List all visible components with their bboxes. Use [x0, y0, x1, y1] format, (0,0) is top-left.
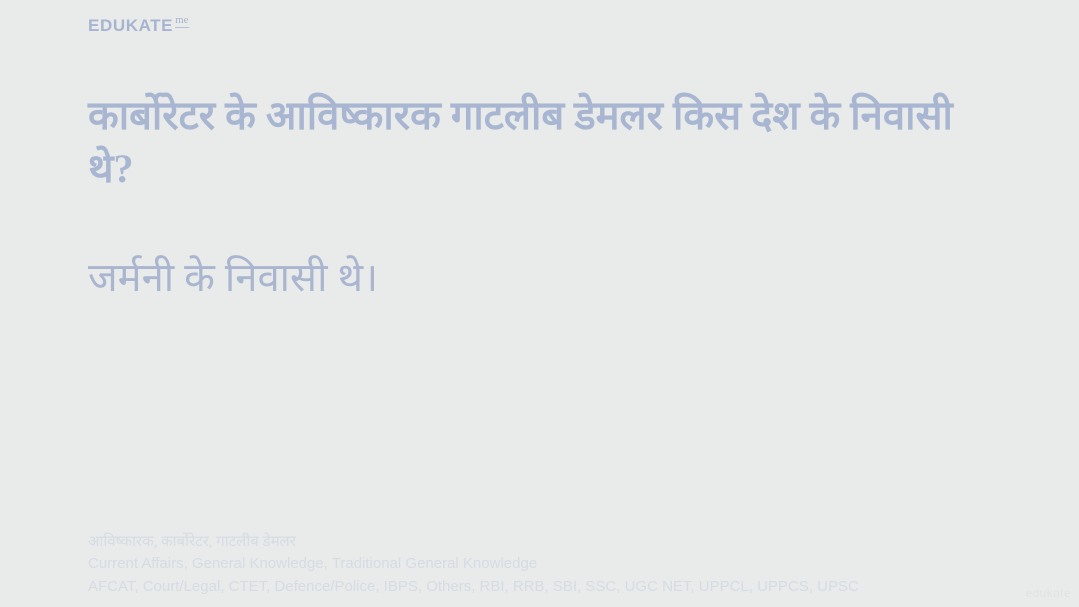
footer-tags-hindi: आविष्कारक, कार्बोरेटर, गाटलीब डेमलर [88, 531, 1048, 554]
slide-canvas: EDUKATE me कार्बोरेटर के आविष्कारक गाटली… [0, 0, 1079, 607]
brand-logo[interactable]: EDUKATE me [88, 17, 189, 34]
footer-tags: आविष्कारक, कार्बोरेटर, गाटलीब डेमलर Curr… [88, 531, 1048, 599]
corner-watermark: edukate [1025, 586, 1071, 600]
footer-exams: AFCAT, Court/Legal, CTET, Defence/Police… [88, 576, 1048, 599]
question-text: कार्बोरेटर के आविष्कारक गाटलीब डेमलर किस… [88, 90, 1008, 196]
brand-logo-superscript: me [175, 15, 188, 28]
footer-categories: Current Affairs, General Knowledge, Trad… [88, 553, 1048, 576]
answer-text: जर्मनी के निवासी थे। [88, 252, 1008, 305]
brand-logo-text: EDUKATE [88, 17, 173, 34]
